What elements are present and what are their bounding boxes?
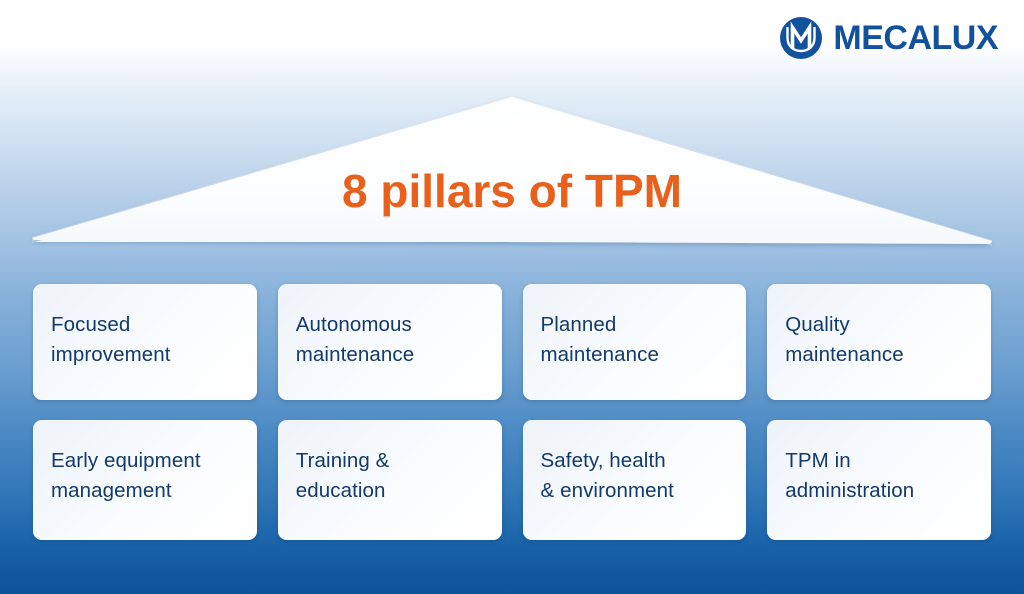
pillar-card-tpm-in-administration[interactable]: TPM in administration <box>767 420 991 540</box>
pillar-label: Planned maintenance <box>541 310 729 371</box>
pillar-card-safety-health-environment[interactable]: Safety, health & environment <box>523 420 747 540</box>
brand-wordmark: MECALUX <box>833 21 998 55</box>
pillar-card-planned-maintenance[interactable]: Planned maintenance <box>523 284 747 400</box>
page-title: 8 pillars of TPM <box>0 168 1024 214</box>
pillar-card-early-equipment-management[interactable]: Early equipment management <box>33 420 257 540</box>
pillar-card-autonomous-maintenance[interactable]: Autonomous maintenance <box>278 284 502 400</box>
tpm-pillars-infographic: 8 pillars of TPM MECALUX Focused improve… <box>0 0 1024 594</box>
pillar-label: Quality maintenance <box>785 310 973 371</box>
pillar-label: TPM in administration <box>785 446 973 507</box>
mecalux-circle-m-logo-icon <box>779 16 823 60</box>
pillar-label: Early equipment management <box>51 446 239 507</box>
pillar-label: Safety, health & environment <box>541 446 729 507</box>
pillar-label: Focused improvement <box>51 310 239 371</box>
pillar-card-training-education[interactable]: Training & education <box>278 420 502 540</box>
pillar-card-focused-improvement[interactable]: Focused improvement <box>33 284 257 400</box>
brand-logo[interactable]: MECALUX <box>779 16 998 60</box>
pillars-grid: Focused improvement Autonomous maintenan… <box>33 284 991 540</box>
pillar-label: Autonomous maintenance <box>296 310 484 371</box>
pillar-card-quality-maintenance[interactable]: Quality maintenance <box>767 284 991 400</box>
pillar-label: Training & education <box>296 446 484 507</box>
